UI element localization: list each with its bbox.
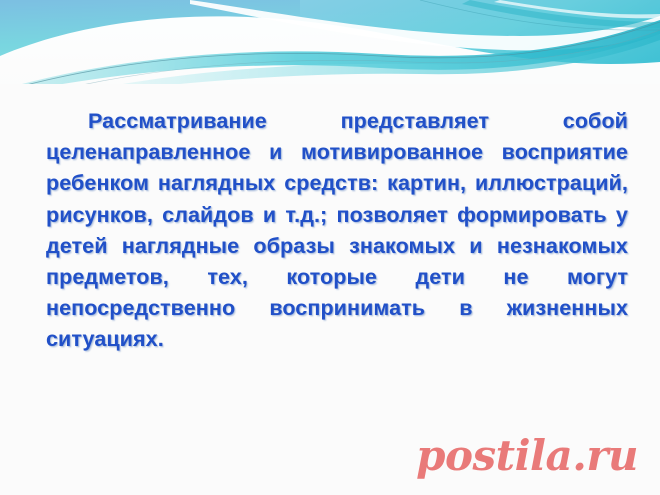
presentation-slide: Рассматривание представляет собой целена… bbox=[0, 0, 660, 495]
wave-banner-graphic bbox=[0, 0, 660, 96]
slide-text-block: Рассматривание представляет собой целена… bbox=[46, 106, 628, 387]
postila-watermark: postila.ru bbox=[416, 435, 638, 477]
wave-banner bbox=[0, 0, 660, 96]
body-paragraph: Рассматривание представляет собой целена… bbox=[46, 106, 628, 387]
